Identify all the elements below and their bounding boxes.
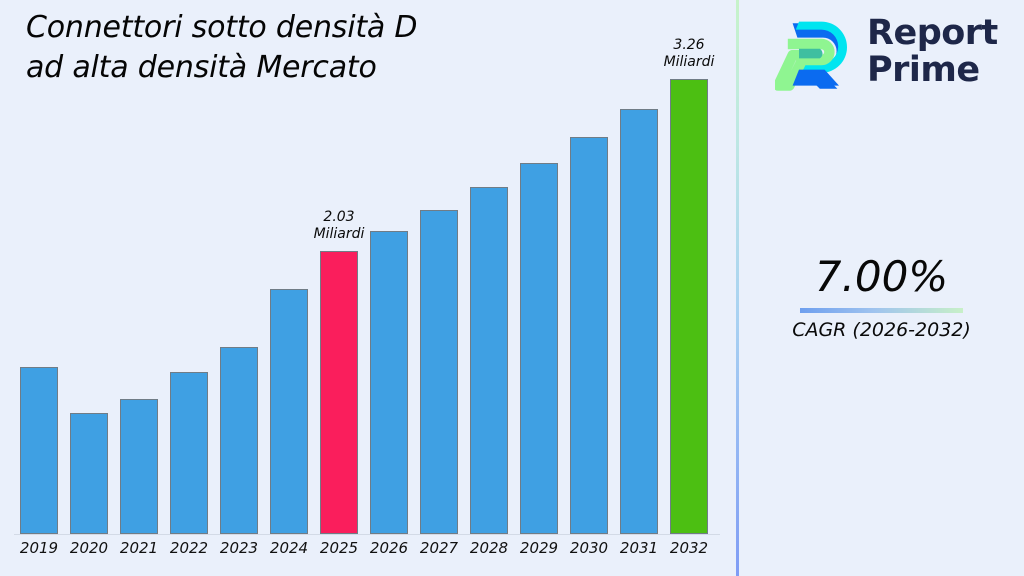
bar-2031 [620, 109, 658, 534]
bar-value-label-2032: 3.26 Miliardi [641, 37, 737, 71]
x-axis-line [14, 534, 720, 535]
bar-2032 [670, 79, 708, 534]
x-tick-2021: 2021 [114, 539, 164, 557]
x-tick-2023: 2023 [214, 539, 264, 557]
cagr-value: 7.00% [739, 252, 1024, 302]
bar-2021 [120, 399, 158, 534]
bar-2026 [370, 231, 408, 534]
bar-2027 [420, 210, 458, 534]
bar-value-label-2025: 2.03 Miliardi [291, 209, 387, 243]
x-tick-2031: 2031 [614, 539, 664, 557]
x-tick-2028: 2028 [464, 539, 514, 557]
brand-logo: Report Prime [775, 12, 998, 92]
bar-2020 [70, 413, 108, 534]
x-tick-2019: 2019 [14, 539, 64, 557]
x-tick-2029: 2029 [514, 539, 564, 557]
plot-area [0, 0, 737, 536]
chart-screenshot: Connettori sotto densità D ad alta densi… [0, 0, 1024, 576]
x-tick-2027: 2027 [414, 539, 464, 557]
brand-name-line1: Report [867, 15, 998, 52]
brand-panel: Report Prime 7.00% CAGR (2026-2032) [739, 0, 1024, 576]
brand-name-line2: Prime [867, 52, 998, 89]
x-tick-2020: 2020 [64, 539, 114, 557]
bar-2025 [320, 251, 358, 534]
bar-2024 [270, 289, 308, 534]
cagr-block: 7.00% CAGR (2026-2032) [739, 252, 1024, 343]
x-tick-2024: 2024 [264, 539, 314, 557]
bar-2019 [20, 367, 58, 534]
x-tick-2026: 2026 [364, 539, 414, 557]
bar-2023 [220, 347, 258, 534]
cagr-divider-rule [800, 308, 963, 313]
bar-2030 [570, 137, 608, 534]
x-tick-2030: 2030 [564, 539, 614, 557]
x-tick-2032: 2032 [664, 539, 714, 557]
x-tick-2025: 2025 [314, 539, 364, 557]
bar-2028 [470, 187, 508, 534]
chart-panel: Connettori sotto densità D ad alta densi… [0, 0, 737, 576]
bar-2029 [520, 163, 558, 534]
x-tick-2022: 2022 [164, 539, 214, 557]
brand-wordmark: Report Prime [867, 15, 998, 89]
bar-2022 [170, 372, 208, 534]
cagr-caption: CAGR (2026-2032) [739, 317, 1024, 343]
report-prime-r-logo-icon [775, 12, 855, 92]
